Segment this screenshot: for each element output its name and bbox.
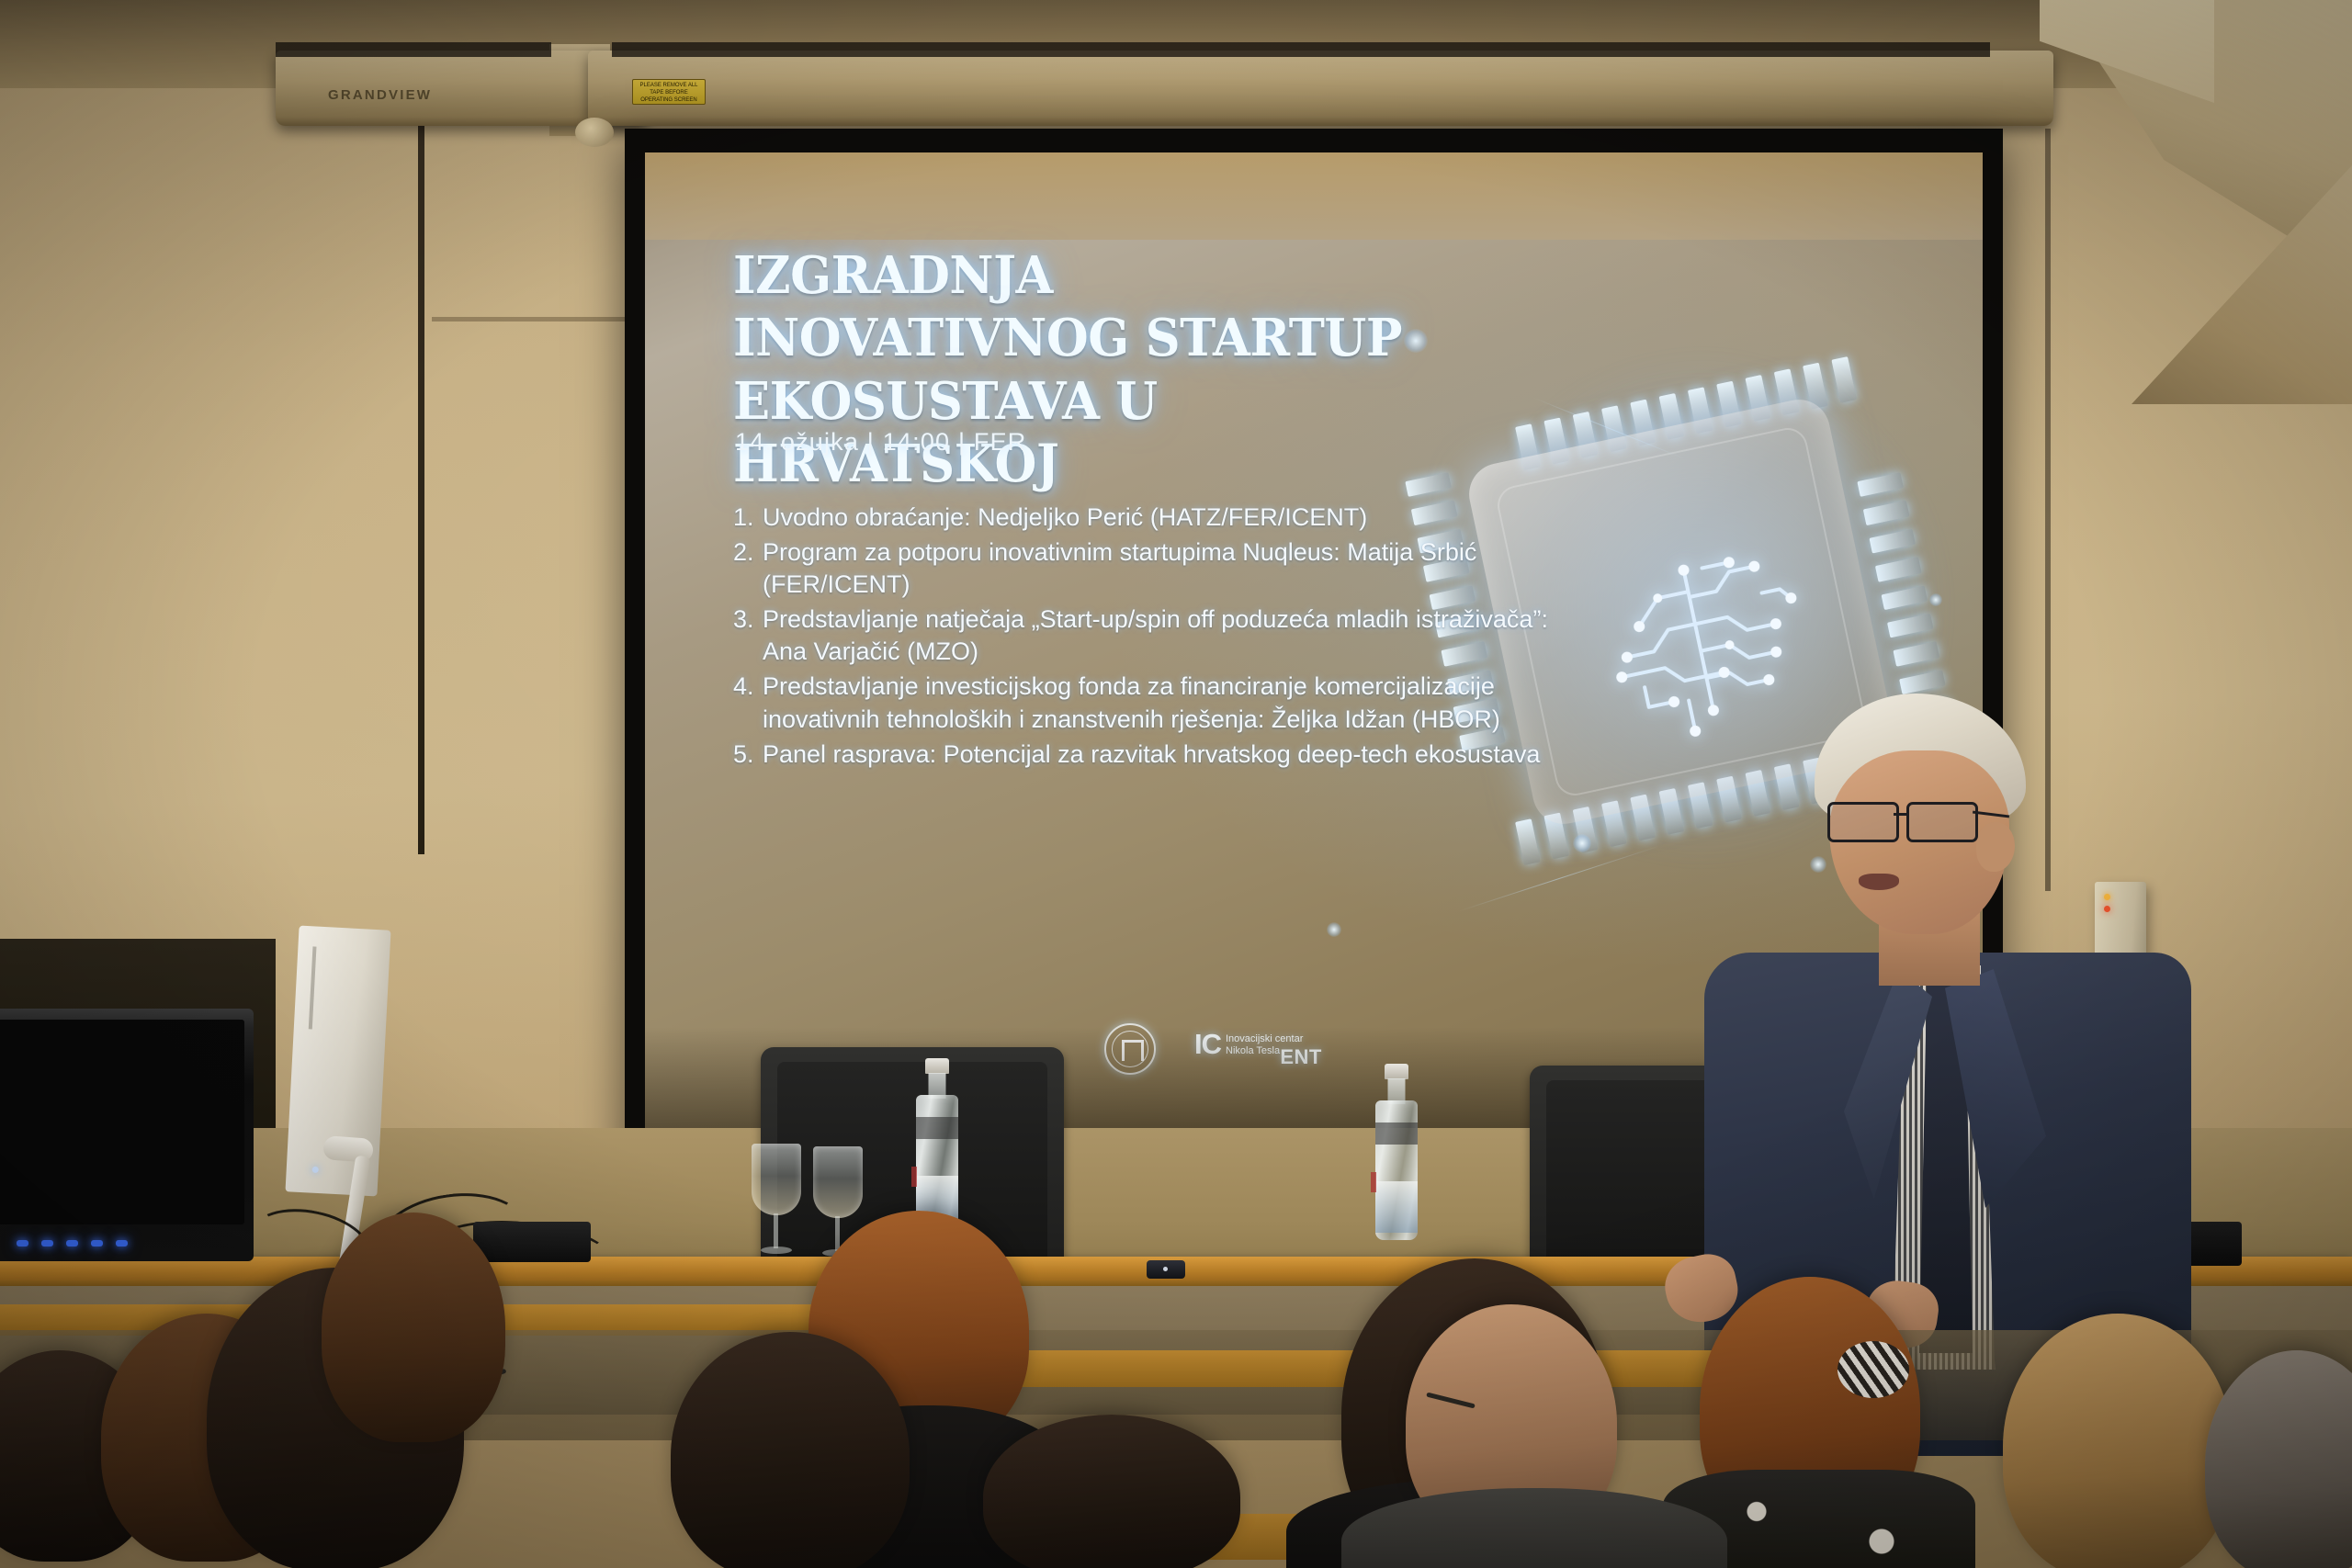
spark-dot bbox=[1327, 922, 1341, 937]
agenda-number: 1. bbox=[733, 502, 763, 534]
network-line bbox=[1532, 397, 1686, 459]
spark-dot bbox=[1929, 593, 1942, 606]
agenda-number: 2. bbox=[733, 536, 763, 601]
ceiling-slot-left bbox=[276, 42, 551, 57]
agenda-text: Predstavljanje investicijskog fonda za f… bbox=[763, 671, 1588, 735]
wall-seam-left bbox=[418, 101, 424, 854]
screen-casing-right bbox=[588, 51, 2053, 126]
agenda-text: Predstavljanje natječaja „Start-up/spin … bbox=[763, 604, 1588, 668]
agenda-text: Uvodno obraćanje: Nedjeljko Perić (HATZ/… bbox=[763, 502, 1588, 534]
presenter-clicker[interactable] bbox=[1147, 1260, 1185, 1279]
agenda-number: 4. bbox=[733, 671, 763, 735]
slide-title-line-1: IZGRADNJA INOVATIVNOG STARTUP bbox=[733, 244, 1450, 370]
slide-top-band bbox=[645, 152, 1983, 240]
wine-glass bbox=[752, 1144, 801, 1263]
av-equipment-box bbox=[473, 1222, 591, 1262]
audience-head bbox=[322, 1213, 505, 1442]
speaker-mouth bbox=[1859, 874, 1899, 890]
audience-head bbox=[2003, 1314, 2233, 1568]
hair-scrunchie bbox=[1837, 1341, 1909, 1398]
agenda-text: Program za potporu inovativnim startupim… bbox=[763, 536, 1588, 601]
screen-brand-label: GRANDVIEW bbox=[328, 87, 432, 103]
chip-pins-top bbox=[1515, 356, 1857, 470]
agenda-text: Panel rasprava: Potencijal za razvitak h… bbox=[763, 739, 1588, 771]
list-item: 3. Predstavljanje natječaja „Start-up/sp… bbox=[733, 604, 1588, 668]
water-bottle bbox=[1369, 1064, 1424, 1247]
agenda-number: 5. bbox=[733, 739, 763, 771]
audience-head bbox=[671, 1332, 910, 1568]
list-item: 2. Program za potporu inovativnim startu… bbox=[733, 536, 1588, 601]
speaker-eyeglasses bbox=[1822, 802, 1996, 839]
slide-agenda-list: 1. Uvodno obraćanje: Nedjeljko Perić (HA… bbox=[733, 502, 1588, 773]
list-item: 5. Panel rasprava: Potencijal za razvita… bbox=[733, 739, 1588, 771]
slide-subtitle: 14. ožujka | 14:00 | FER bbox=[735, 428, 1026, 457]
network-line bbox=[1458, 845, 1659, 911]
agenda-number: 3. bbox=[733, 604, 763, 668]
laptop-display bbox=[0, 1009, 254, 1261]
list-item: 4. Predstavljanje investicijskog fonda z… bbox=[733, 671, 1588, 735]
screen-roller-end-cap bbox=[575, 118, 614, 147]
laptop-led-row bbox=[17, 1240, 128, 1247]
slide-title: IZGRADNJA INOVATIVNOG STARTUP EKOSUSTAVA… bbox=[733, 244, 1450, 495]
list-item: 1. Uvodno obraćanje: Nedjeljko Perić (HA… bbox=[733, 502, 1588, 534]
ceiling-slot-right bbox=[612, 42, 1990, 57]
lecture-hall-photo: GRANDVIEW PLEASE REMOVE ALL TAPE BEFORE … bbox=[0, 0, 2352, 1568]
audience-head bbox=[983, 1415, 1240, 1568]
screen-warning-label: PLEASE REMOVE ALL TAPE BEFORE OPERATING … bbox=[632, 79, 706, 105]
spark-dot bbox=[1573, 834, 1591, 852]
